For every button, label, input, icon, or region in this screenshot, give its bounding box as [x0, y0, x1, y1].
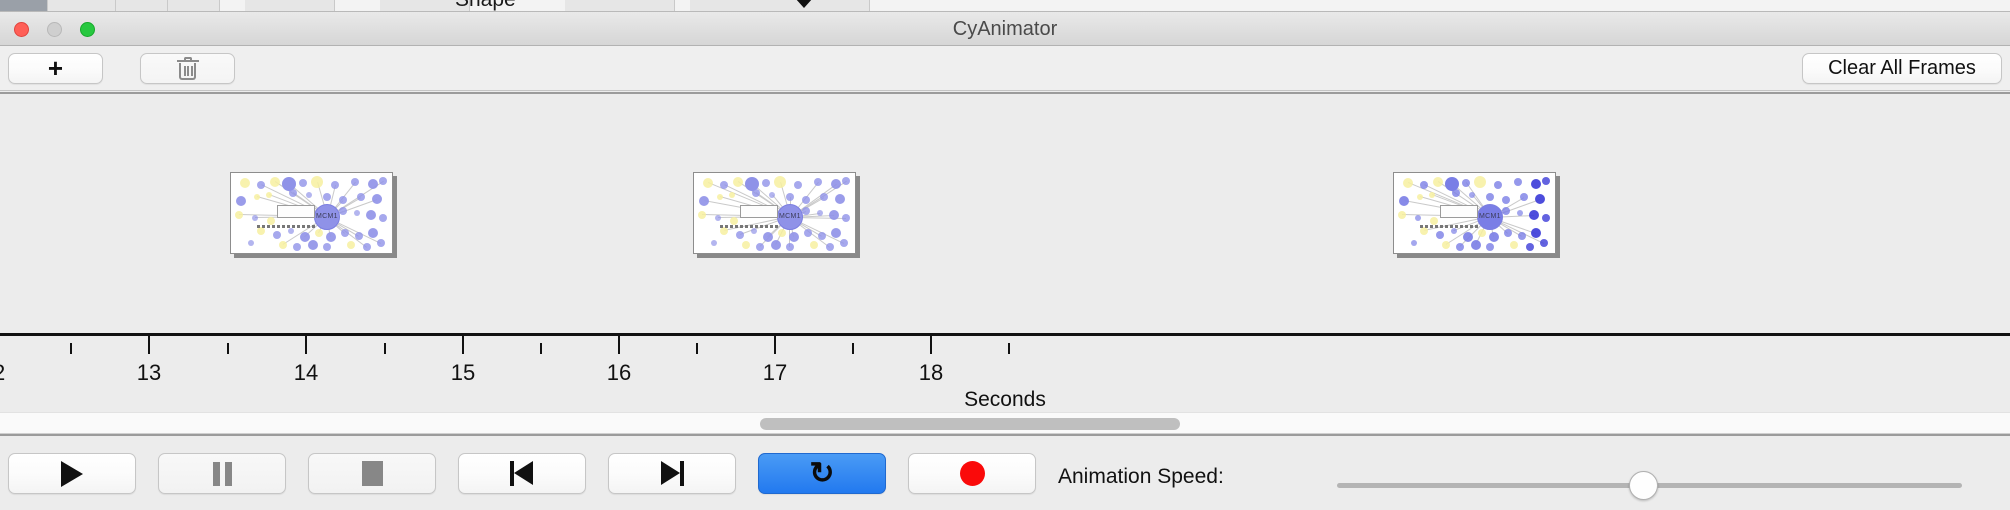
graph-node [751, 228, 757, 234]
graph-node [820, 193, 828, 201]
graph-node [1430, 217, 1438, 225]
graph-node [306, 192, 312, 198]
graph-tooltip [740, 205, 778, 218]
graph-node [778, 229, 786, 237]
graph-node [1531, 179, 1541, 189]
graph-node [1451, 228, 1457, 234]
axis-tick-label: 16 [607, 360, 631, 386]
play-button[interactable] [8, 453, 136, 494]
graph-node [347, 241, 355, 249]
graph-node [720, 181, 728, 189]
axis-tick [462, 333, 464, 354]
graph-node [341, 229, 349, 237]
axis-tick [227, 343, 229, 354]
graph-node [1456, 243, 1464, 251]
play-icon [61, 461, 83, 487]
graph-node [377, 239, 385, 247]
graph-node [351, 178, 359, 186]
graph-node [254, 194, 260, 200]
graph-node [804, 229, 812, 237]
toolbar: + Clear All Frames [0, 46, 2010, 91]
graph-node [1518, 232, 1526, 240]
graph-node [326, 232, 336, 242]
graph-node [355, 232, 363, 240]
skip-end-button[interactable] [608, 453, 736, 494]
graph-node [756, 243, 764, 251]
graph-node [1486, 193, 1494, 201]
bg-caret-icon [795, 0, 813, 8]
plus-icon: + [48, 53, 63, 84]
graph-node [1415, 215, 1421, 221]
graph-node [1471, 240, 1481, 250]
timeline-panel[interactable]: MCM1MCM1MCM1 12131415161718 Seconds [0, 92, 2010, 412]
title-bar: CyAnimator [0, 12, 2010, 46]
graph-node [1417, 194, 1423, 200]
bg-segment [565, 0, 675, 12]
graph-node [742, 241, 750, 249]
graph-caption [257, 225, 317, 228]
pause-button[interactable] [158, 453, 286, 494]
skip-start-button[interactable] [458, 453, 586, 494]
graph-hub-label: MCM1 [316, 213, 338, 220]
graph-node [1517, 210, 1523, 216]
graph-node [794, 181, 802, 189]
graph-node [368, 228, 378, 238]
graph-node [266, 192, 272, 198]
bg-segment [48, 0, 116, 12]
graph-node [1462, 179, 1470, 187]
trash-icon [177, 57, 199, 81]
graph-node [1510, 241, 1518, 249]
axis-tick [774, 333, 776, 354]
graph-node [752, 189, 760, 197]
graph-node [308, 240, 318, 250]
bg-segment [690, 0, 870, 12]
loop-icon: ↻ [809, 459, 834, 489]
graph-node [323, 243, 331, 251]
graph-hub-label: MCM1 [1479, 213, 1501, 220]
graph-node [1486, 243, 1494, 251]
skip-start-icon [509, 461, 535, 486]
graph-node [252, 215, 258, 221]
axis-tick [70, 343, 72, 354]
skip-end-icon [659, 461, 685, 486]
animation-speed-thumb[interactable] [1629, 471, 1658, 500]
timeline-frame-thumbnail[interactable]: MCM1 [693, 172, 856, 254]
window-title: CyAnimator [0, 12, 2010, 46]
graph-node [354, 210, 360, 216]
clear-all-frames-button[interactable]: Clear All Frames [1802, 53, 2002, 84]
graph-node [235, 211, 243, 219]
graph-node [711, 240, 717, 246]
graph-node [771, 240, 781, 250]
graph-node [366, 210, 376, 220]
graph-node [802, 196, 810, 204]
graph-node [831, 228, 841, 238]
bg-window-label: Shape [455, 0, 516, 12]
graph-node [1531, 228, 1541, 238]
graph-node [289, 189, 297, 197]
graph-node [1403, 178, 1413, 188]
graph-node [1398, 211, 1406, 219]
add-frame-button[interactable]: + [8, 53, 103, 84]
graph-node [368, 179, 378, 189]
graph-node [789, 232, 799, 242]
graph-node [826, 243, 834, 251]
stop-icon [362, 461, 383, 486]
clear-all-frames-label: Clear All Frames [1828, 57, 1976, 80]
timeline-frame-thumbnail[interactable]: MCM1 [230, 172, 393, 254]
axis-tick-label: 12 [0, 360, 5, 386]
bg-segment [116, 0, 168, 12]
graph-node [703, 178, 713, 188]
graph-node [786, 193, 794, 201]
graph-node [379, 214, 387, 222]
axis-tick-label: 13 [137, 360, 161, 386]
graph-node [810, 241, 818, 249]
axis-tick-label: 15 [451, 360, 475, 386]
graph-node [814, 178, 822, 186]
playback-bar: ↻ Animation Speed: [0, 434, 2010, 510]
graph-node [715, 215, 721, 221]
graph-node [1526, 243, 1534, 251]
graph-node [1504, 229, 1512, 237]
axis-title: Seconds [0, 388, 2010, 412]
graph-node [1478, 229, 1486, 237]
graph-caption [720, 225, 780, 228]
axis-tick [540, 343, 542, 354]
graph-node [1529, 210, 1539, 220]
graph-node [236, 196, 246, 206]
pause-icon [213, 462, 232, 486]
graph-node [774, 176, 786, 188]
scrollbar-thumb[interactable] [760, 418, 1180, 430]
bg-segment [0, 0, 48, 12]
graph-node [840, 239, 848, 247]
axis-tick [852, 343, 854, 354]
graph-node [288, 228, 294, 234]
horizontal-scrollbar[interactable] [0, 412, 2010, 434]
graph-node [311, 176, 323, 188]
graph-node [842, 214, 850, 222]
graph-node [1494, 181, 1502, 189]
graph-node [1542, 214, 1550, 222]
graph-node [273, 231, 281, 239]
graph-node [817, 210, 823, 216]
graph-node [1535, 194, 1545, 204]
graph-node [1469, 192, 1475, 198]
record-button[interactable] [908, 453, 1036, 494]
bg-segment [168, 0, 220, 12]
bg-segment [245, 0, 335, 12]
graph-node [720, 227, 728, 235]
graph-node [835, 194, 845, 204]
graph-node [818, 232, 826, 240]
timeline-frame-thumbnail[interactable]: MCM1 [1393, 172, 1556, 254]
record-icon [960, 461, 985, 486]
background-window-strip: Shape [0, 0, 2010, 12]
graph-node [1514, 178, 1522, 186]
axis-tick [305, 333, 307, 354]
graph-node [357, 193, 365, 201]
graph-node [717, 194, 723, 200]
cyanimator-window: Shape CyAnimator + Clear All Frames MCM1… [0, 0, 2010, 510]
graph-node [1452, 189, 1460, 197]
graph-node [786, 243, 794, 251]
graph-node [1540, 239, 1548, 247]
graph-node [729, 192, 735, 198]
axis-tick-label: 14 [294, 360, 318, 386]
graph-node [733, 177, 743, 187]
graph-node [1474, 176, 1486, 188]
graph-node [1502, 207, 1510, 215]
graph-node [279, 241, 287, 249]
graph-node [1542, 177, 1550, 185]
graph-node [842, 177, 850, 185]
axis-tick-label: 17 [763, 360, 787, 386]
graph-tooltip [1440, 205, 1478, 218]
graph-node [1433, 177, 1443, 187]
loop-button[interactable]: ↻ [758, 453, 886, 494]
graph-node [1442, 241, 1450, 249]
graph-node [293, 243, 301, 251]
graph-node [1520, 193, 1528, 201]
graph-node [1489, 232, 1499, 242]
graph-node [339, 196, 347, 204]
graph-node [315, 229, 323, 237]
graph-node [1420, 181, 1428, 189]
graph-node [257, 227, 265, 235]
axis-tick [618, 333, 620, 354]
graph-node [736, 231, 744, 239]
graph-node [323, 193, 331, 201]
graph-node [1411, 240, 1417, 246]
graph-node [829, 210, 839, 220]
graph-node [240, 178, 250, 188]
graph-node [802, 207, 810, 215]
graph-node [1399, 196, 1409, 206]
graph-node [698, 211, 706, 219]
axis-tick [148, 333, 150, 354]
stop-button[interactable] [308, 453, 436, 494]
graph-node [1436, 231, 1444, 239]
graph-node [257, 181, 265, 189]
graph-node [831, 179, 841, 189]
graph-node [1502, 196, 1510, 204]
graph-node [372, 194, 382, 204]
timeline-axis [0, 333, 2010, 336]
graph-caption [1420, 225, 1480, 228]
graph-node [339, 207, 347, 215]
axis-tick-label: 18 [919, 360, 943, 386]
graph-node [299, 179, 307, 187]
graph-node [363, 243, 371, 251]
graph-node [248, 240, 254, 246]
axis-tick [696, 343, 698, 354]
axis-tick [384, 343, 386, 354]
graph-node [762, 179, 770, 187]
graph-node [270, 177, 280, 187]
graph-tooltip [277, 205, 315, 218]
graph-node [769, 192, 775, 198]
graph-node [1420, 227, 1428, 235]
graph-node [1429, 192, 1435, 198]
axis-tick [1008, 343, 1010, 354]
graph-node [379, 177, 387, 185]
graph-node [730, 217, 738, 225]
graph-node [699, 196, 709, 206]
graph-node [331, 181, 339, 189]
animation-speed-label: Animation Speed: [1058, 465, 1224, 489]
axis-tick [930, 333, 932, 354]
graph-node [267, 217, 275, 225]
graph-hub-label: MCM1 [779, 213, 801, 220]
delete-frame-button[interactable] [140, 53, 235, 84]
